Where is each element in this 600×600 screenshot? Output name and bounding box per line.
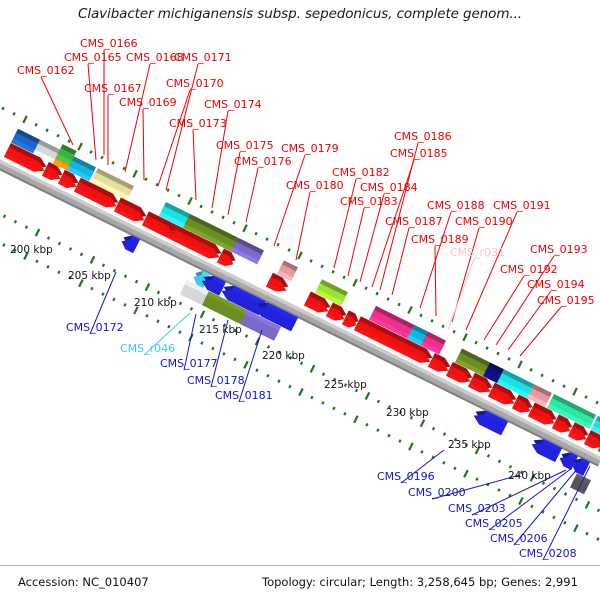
gene-label[interactable]: CMS_0180	[286, 180, 344, 191]
gene-label[interactable]: CMS_0179	[281, 143, 339, 154]
gene-label[interactable]: CMS_0162	[17, 65, 75, 76]
scale-tick-label: 225 kbp	[324, 380, 367, 391]
gene-label[interactable]: CMS_0189	[411, 234, 469, 245]
gene-label[interactable]: CMS_0171	[174, 52, 232, 63]
gene-label[interactable]: CMS_0178	[187, 375, 245, 386]
gene-label[interactable]: CMS_0175	[216, 140, 274, 151]
gene-label[interactable]: CMS_0200	[408, 487, 466, 498]
scale-tick-label: 210 kbp	[134, 298, 177, 309]
gene-label[interactable]: CMS_0195	[537, 295, 595, 306]
footer-divider	[0, 565, 600, 566]
gene-label[interactable]: CMS_0165	[64, 52, 122, 63]
gene-label[interactable]: CMS_0191	[493, 200, 551, 211]
gene-label[interactable]: CMS_0208	[519, 548, 577, 559]
gene-feature[interactable]	[114, 197, 146, 221]
gene-label[interactable]: CMS_0187	[385, 216, 443, 227]
gene-label[interactable]: CMS_0170	[166, 78, 224, 89]
gene-label[interactable]: CMS_0169	[119, 97, 177, 108]
scale-tick-label: 235 kbp	[448, 440, 491, 451]
gene-label[interactable]: CMS_0181	[215, 390, 273, 401]
scale-tick-label: 220 kbp	[262, 351, 305, 362]
gene-label[interactable]: CMS_0172	[66, 322, 124, 333]
gene-feature[interactable]	[572, 458, 590, 476]
gene-label[interactable]: CMS_0177	[160, 358, 218, 369]
gene-label[interactable]: CMS_0173	[169, 118, 227, 129]
gene-label[interactable]: CMS_0188	[427, 200, 485, 211]
gene-label[interactable]: CMS_0192	[500, 264, 558, 275]
gene-label[interactable]: CMS_0205	[465, 518, 523, 529]
gene-label[interactable]: CMS_0166	[80, 38, 138, 49]
gene-feature[interactable]	[428, 353, 450, 372]
genome-stats-text: Topology: circular; Length: 3,258,645 bp…	[262, 575, 578, 589]
gene-label[interactable]: CMS_0190	[455, 216, 513, 227]
gene-label[interactable]: CMS_0183	[340, 196, 398, 207]
gene-label[interactable]: CMS_0182	[332, 167, 390, 178]
gene-label[interactable]: CMS_0206	[490, 533, 548, 544]
gene-label[interactable]: CMS_0176	[234, 156, 292, 167]
genome-map-viewer: Clavibacter michiganensis subsp. sepedon…	[0, 0, 600, 600]
gene-label[interactable]: CMS_0196	[377, 471, 435, 482]
gene-feature[interactable]	[122, 236, 140, 254]
scale-tick-label: 205 kbp	[68, 271, 111, 282]
gene-label[interactable]: CMS_0167	[84, 83, 142, 94]
gene-label[interactable]: CMS_0174	[204, 99, 262, 110]
gene-label[interactable]: CMS_r031	[450, 247, 505, 258]
scale-tick-label: 240 kbp	[508, 471, 551, 482]
gene-label[interactable]: CMS_0185	[390, 148, 448, 159]
accession-text: Accession: NC_010407	[18, 575, 149, 589]
gene-feature[interactable]	[231, 238, 264, 265]
gene-label[interactable]: CMS_0194	[527, 279, 585, 290]
gene-label[interactable]: CMS_0184	[360, 182, 418, 193]
scale-tick-label: 230 kbp	[386, 408, 429, 419]
gene-label[interactable]: CMS_0193	[530, 244, 588, 255]
scale-tick-label: 215 kbp	[199, 325, 242, 336]
gene-label[interactable]: CMS_0186	[394, 131, 452, 142]
gene-label[interactable]: CMS_r046	[120, 343, 175, 354]
gene-feature[interactable]	[570, 473, 591, 494]
gene-label[interactable]: CMS_0203	[448, 503, 506, 514]
scale-tick-label: 200 kbp	[10, 245, 53, 256]
